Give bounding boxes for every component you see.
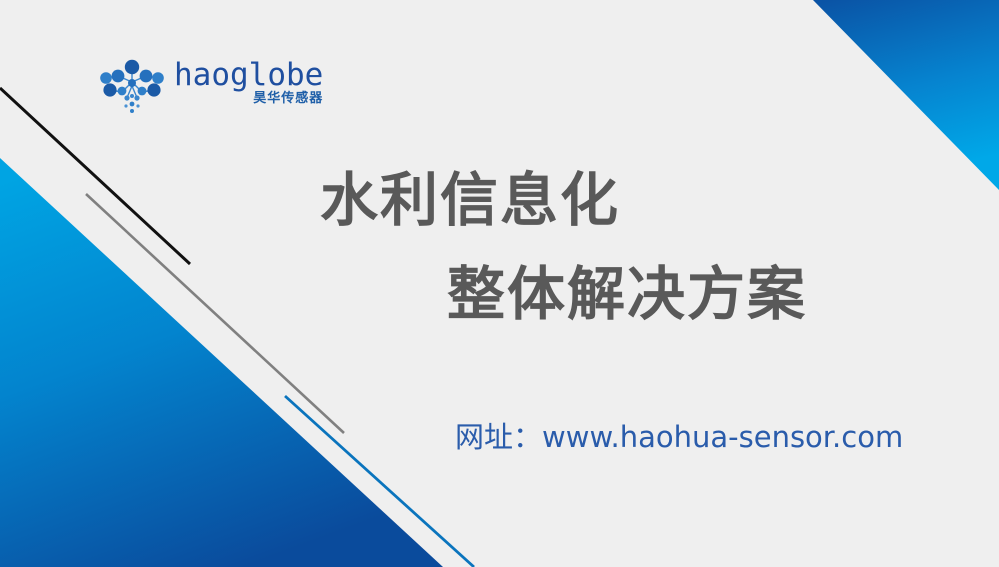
website-url-line: 网址：www.haohua-sensor.com — [455, 418, 903, 456]
slide-title-line-1: 水利信息化 — [320, 168, 620, 232]
logo-text-block: haoglobe 昊华传感器 — [174, 56, 323, 106]
company-logo: haoglobe 昊华传感器 — [96, 56, 316, 118]
slide-title-line-2: 整体解决方案 — [447, 262, 807, 326]
slide-canvas: haoglobe 昊华传感器 水利信息化 整体解决方案 网址：www.haohu… — [0, 0, 999, 567]
website-url-value[interactable]: www.haohua-sensor.com — [542, 420, 903, 454]
website-url-label: 网址： — [455, 420, 542, 454]
haoglobe-network-mark-icon — [96, 56, 168, 114]
logo-subtitle: 昊华传感器 — [253, 91, 323, 106]
logo-wordmark: haoglobe — [174, 58, 323, 92]
